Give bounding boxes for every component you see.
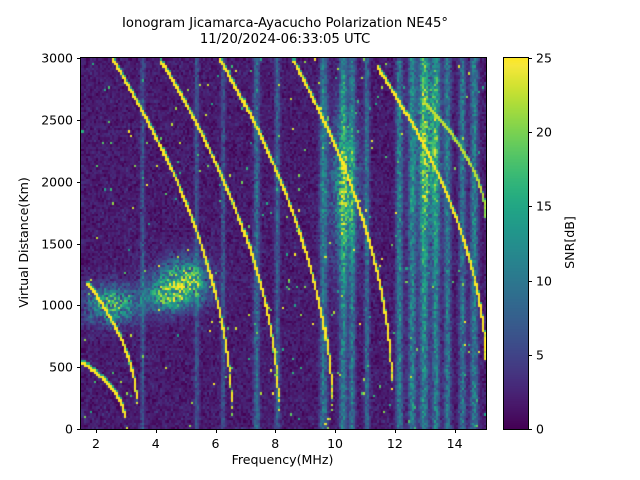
y-tick-mark <box>77 429 81 430</box>
colorbar-label: SNR[dB] <box>560 57 578 428</box>
colorbar-tick-label: 10 <box>536 273 552 288</box>
x-tick-label: 8 <box>271 436 279 451</box>
x-tick-mark <box>216 429 217 433</box>
x-tick-mark <box>156 429 157 433</box>
x-tick-mark <box>335 429 336 433</box>
y-tick-label: 1000 <box>41 298 73 313</box>
x-tick-label: 10 <box>327 436 343 451</box>
x-tick-label: 2 <box>92 436 100 451</box>
title-line-1: Ionogram Jicamarca-Ayacucho Polarization… <box>0 16 570 32</box>
colorbar-label-text: SNR[dB] <box>562 216 577 269</box>
x-tick-label: 14 <box>447 436 463 451</box>
y-tick-label: 2000 <box>41 174 73 189</box>
y-tick-mark <box>77 120 81 121</box>
title-line-2: 11/20/2024-06:33:05 UTC <box>0 32 570 48</box>
plot-axes: 050010001500200025003000 2468101214 <box>80 57 487 430</box>
ionogram-figure: Ionogram Jicamarca-Ayacucho Polarization… <box>0 0 640 480</box>
colorbar-tick-mark <box>528 429 532 430</box>
colorbar-tick-label: 25 <box>536 51 552 66</box>
y-tick-mark <box>77 244 81 245</box>
colorbar-tick-mark <box>528 355 532 356</box>
x-tick-mark <box>96 429 97 433</box>
y-tick-label: 3000 <box>41 51 73 66</box>
x-axis-label: Frequency(MHz) <box>80 452 485 467</box>
x-tick-label: 12 <box>387 436 403 451</box>
figure-title: Ionogram Jicamarca-Ayacucho Polarization… <box>0 16 570 48</box>
colorbar-tick-mark <box>528 281 532 282</box>
colorbar-tick-mark <box>528 206 532 207</box>
x-tick-mark <box>395 429 396 433</box>
colorbar-tick-label: 5 <box>536 347 544 362</box>
y-tick-label: 1500 <box>41 236 73 251</box>
colorbar-tick-mark <box>528 58 532 59</box>
y-tick-mark <box>77 182 81 183</box>
colorbar-gradient <box>504 58 528 429</box>
y-tick-mark <box>77 367 81 368</box>
x-tick-label: 4 <box>152 436 160 451</box>
x-tick-mark <box>275 429 276 433</box>
y-tick-mark <box>77 58 81 59</box>
colorbar-tick-label: 15 <box>536 199 552 214</box>
colorbar-tick-label: 0 <box>536 422 544 437</box>
colorbar: 0510152025 <box>503 57 529 430</box>
y-axis-label-text: Virtual Distance(Km) <box>16 177 31 308</box>
colorbar-tick-mark <box>528 132 532 133</box>
x-tick-label: 6 <box>212 436 220 451</box>
y-tick-label: 500 <box>49 360 73 375</box>
x-tick-mark <box>455 429 456 433</box>
y-axis-label: Virtual Distance(Km) <box>14 57 32 428</box>
ionogram-heatmap <box>81 58 486 429</box>
colorbar-tick-label: 20 <box>536 125 552 140</box>
y-tick-label: 2500 <box>41 112 73 127</box>
y-tick-mark <box>77 305 81 306</box>
y-tick-label: 0 <box>65 422 73 437</box>
